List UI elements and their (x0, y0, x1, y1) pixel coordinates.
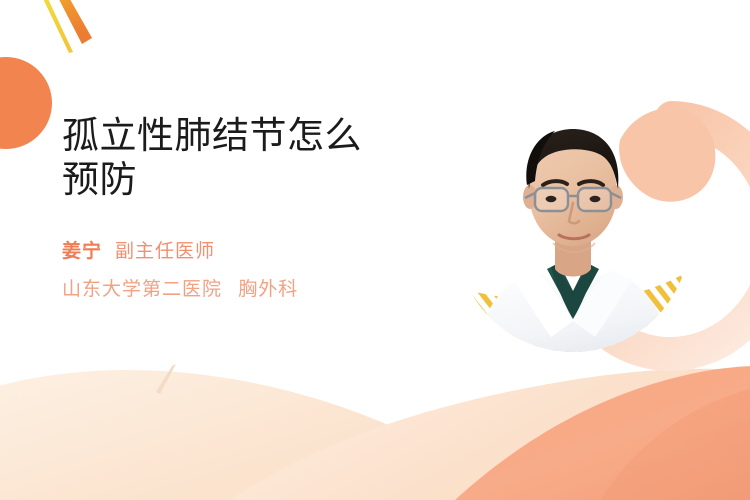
department-name: 胸外科 (238, 279, 298, 300)
byline-affiliation-row: 山东大学第二医院 胸外科 (62, 275, 432, 304)
portrait-figure (475, 129, 671, 365)
peach-wave-mid (230, 369, 750, 500)
doctor-portrait (455, 85, 690, 365)
peach-wave-light (0, 370, 750, 500)
byline: 姜宁副主任医师 山东大学第二医院 胸外科 (62, 237, 432, 304)
byline-name-row: 姜宁副主任医师 (62, 237, 432, 266)
yellow-diagonal-stripe (36, 0, 73, 53)
doctor-name: 姜宁 (62, 241, 102, 262)
doctor-title: 副主任医师 (115, 241, 215, 262)
hospital-name: 山东大学第二医院 (62, 279, 222, 300)
page-title: 孤立性肺结节怎么 预防 (62, 114, 432, 201)
orange-diagonal-stripe (48, 0, 92, 44)
text-block: 孤立性肺结节怎么 预防 姜宁副主任医师 山东大学第二医院 胸外科 (62, 114, 432, 304)
orange-circle (0, 57, 52, 149)
thin-diagonal-tick (156, 364, 176, 394)
coral-wave-overlap (600, 386, 750, 500)
coral-wave (455, 366, 750, 500)
doctor-video-cover-card: 孤立性肺结节怎么 预防 姜宁副主任医师 山东大学第二医院 胸外科 (0, 0, 750, 500)
portrait-clip (455, 85, 690, 365)
